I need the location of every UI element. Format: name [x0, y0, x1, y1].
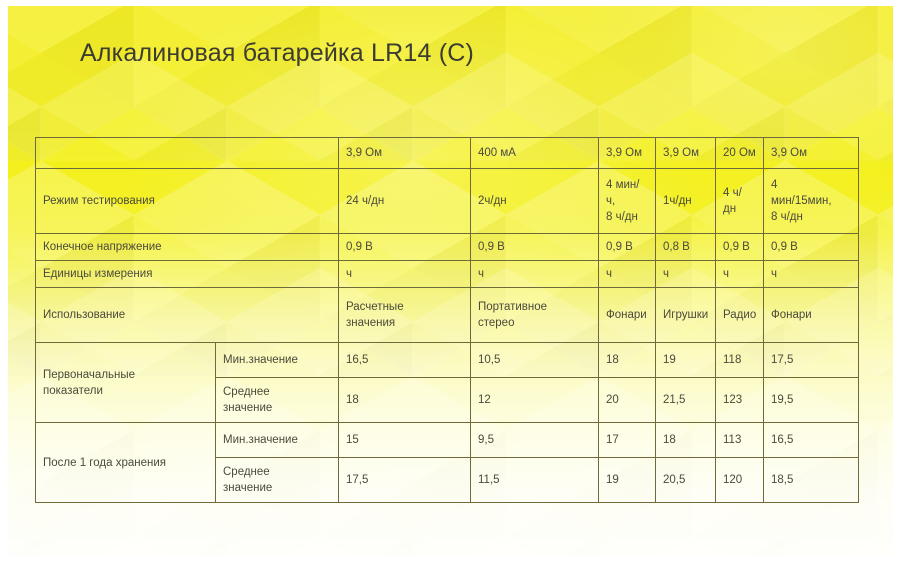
group-label-stored: После 1 года хранения [36, 423, 216, 503]
units-value-1: ч [339, 261, 471, 288]
initial-avg-value-1: 18 [339, 378, 471, 423]
sublabel-initial-avg: Среднее значение [216, 378, 339, 423]
initial-avg-value-6: 19,5 [764, 378, 859, 423]
units-value-6: ч [764, 261, 859, 288]
header-cell-1: 3,9 Ом [339, 138, 471, 169]
table-row-usage: Использование Расчетные значения Портати… [36, 288, 859, 343]
initial-avg-value-5: 123 [716, 378, 764, 423]
sublabel-stored-avg: Среднее значение [216, 458, 339, 503]
slide-screen: Алкалиновая батарейка LR14 (C) 3,9 Ом 40… [0, 0, 901, 561]
stored-min-value-3: 17 [599, 423, 656, 458]
row-label-cutoff-voltage: Конечное напряжение [36, 234, 339, 261]
units-value-2: ч [471, 261, 599, 288]
usage-value-6: Фонари [764, 288, 859, 343]
initial-min-value-3: 18 [599, 343, 656, 378]
page-title: Алкалиновая батарейка LR14 (C) [80, 38, 474, 68]
table-row-initial-min: Первоначальные показатели Мин.значение 1… [36, 343, 859, 378]
slide-canvas: Алкалиновая батарейка LR14 (C) 3,9 Ом 40… [8, 6, 893, 555]
cutoff-voltage-value-5: 0,9 В [716, 234, 764, 261]
group-label-initial: Первоначальные показатели [36, 343, 216, 423]
usage-value-3: Фонари [599, 288, 656, 343]
test-mode-value-4: 1ч/дн [656, 169, 716, 234]
stored-min-value-5: 113 [716, 423, 764, 458]
initial-min-value-1: 16,5 [339, 343, 471, 378]
cutoff-voltage-value-1: 0,9 В [339, 234, 471, 261]
sublabel-initial-min: Мин.значение [216, 343, 339, 378]
cutoff-voltage-value-6: 0,9 В [764, 234, 859, 261]
header-corner-cell [36, 138, 339, 169]
stored-min-value-2: 9,5 [471, 423, 599, 458]
specs-table: 3,9 Ом 400 мА 3,9 Ом 3,9 Ом 20 Ом 3,9 Ом… [35, 137, 859, 503]
header-cell-4: 3,9 Ом [656, 138, 716, 169]
cutoff-voltage-value-4: 0,8 В [656, 234, 716, 261]
specs-table-container: 3,9 Ом 400 мА 3,9 Ом 3,9 Ом 20 Ом 3,9 Ом… [35, 137, 858, 503]
initial-min-value-5: 118 [716, 343, 764, 378]
row-label-usage: Использование [36, 288, 339, 343]
initial-min-value-4: 19 [656, 343, 716, 378]
initial-avg-value-3: 20 [599, 378, 656, 423]
table-header-row: 3,9 Ом 400 мА 3,9 Ом 3,9 Ом 20 Ом 3,9 Ом [36, 138, 859, 169]
cutoff-voltage-value-3: 0,9 В [599, 234, 656, 261]
usage-value-4: Игрушки [656, 288, 716, 343]
test-mode-value-3: 4 мин/ч, 8 ч/дн [599, 169, 656, 234]
initial-avg-value-4: 21,5 [656, 378, 716, 423]
header-cell-6: 3,9 Ом [764, 138, 859, 169]
initial-min-value-2: 10,5 [471, 343, 599, 378]
test-mode-value-5: 4 ч/ дн [716, 169, 764, 234]
stored-avg-value-2: 11,5 [471, 458, 599, 503]
initial-avg-value-2: 12 [471, 378, 599, 423]
test-mode-value-1: 24 ч/дн [339, 169, 471, 234]
test-mode-value-6: 4 мин/15мин, 8 ч/дн [764, 169, 859, 234]
usage-value-1: Расчетные значения [339, 288, 471, 343]
table-row-cutoff-voltage: Конечное напряжение 0,9 В 0,9 В 0,9 В 0,… [36, 234, 859, 261]
cutoff-voltage-value-2: 0,9 В [471, 234, 599, 261]
table-row-units: Единицы измерения ч ч ч ч ч ч [36, 261, 859, 288]
row-label-test-mode: Режим тестирования [36, 169, 339, 234]
test-mode-value-2: 2ч/дн [471, 169, 599, 234]
row-label-units: Единицы измерения [36, 261, 339, 288]
table-row-stored-min: После 1 года хранения Мин.значение 15 9,… [36, 423, 859, 458]
initial-min-value-6: 17,5 [764, 343, 859, 378]
stored-avg-value-6: 18,5 [764, 458, 859, 503]
usage-value-2: Портативное стерео [471, 288, 599, 343]
sublabel-stored-min: Мин.значение [216, 423, 339, 458]
stored-min-value-6: 16,5 [764, 423, 859, 458]
header-cell-2: 400 мА [471, 138, 599, 169]
units-value-4: ч [656, 261, 716, 288]
stored-min-value-1: 15 [339, 423, 471, 458]
units-value-5: ч [716, 261, 764, 288]
stored-min-value-4: 18 [656, 423, 716, 458]
usage-value-5: Радио [716, 288, 764, 343]
stored-avg-value-1: 17,5 [339, 458, 471, 503]
stored-avg-value-4: 20,5 [656, 458, 716, 503]
units-value-3: ч [599, 261, 656, 288]
stored-avg-value-5: 120 [716, 458, 764, 503]
header-cell-3: 3,9 Ом [599, 138, 656, 169]
header-cell-5: 20 Ом [716, 138, 764, 169]
stored-avg-value-3: 19 [599, 458, 656, 503]
table-row-test-mode: Режим тестирования 24 ч/дн 2ч/дн 4 мин/ч… [36, 169, 859, 234]
